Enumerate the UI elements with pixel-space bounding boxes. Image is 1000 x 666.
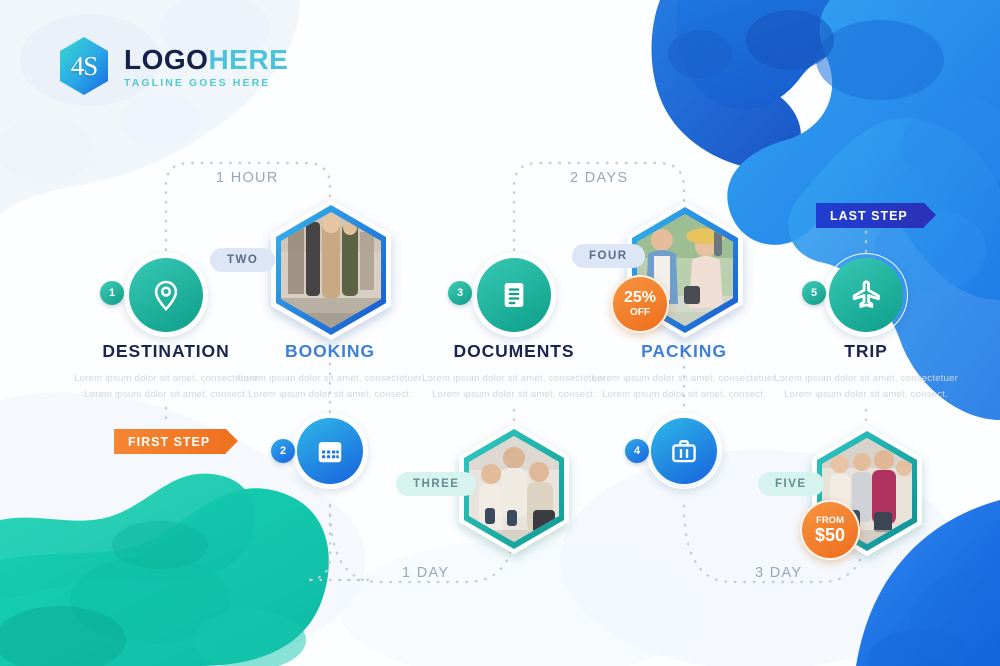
step-text-booking: BOOKING Lorem ipsum dolor sit amet, cons… — [230, 341, 430, 403]
chip-five[interactable]: FIVE — [758, 472, 824, 496]
step-number-badge-1: 1 — [100, 281, 124, 305]
banner-last-step-label: LAST STEP — [830, 209, 908, 223]
logo-hexagon-icon: 4S — [58, 36, 110, 96]
step-text-trip: TRIP Lorem ipsum dolor sit amet, consect… — [766, 341, 966, 403]
chip-four[interactable]: FOUR — [572, 244, 645, 268]
document-icon — [477, 258, 551, 332]
promo-price-value: $50 — [815, 526, 845, 544]
infographic-canvas: 4S LOGOHERE TAGLINE GOES HERE — [0, 0, 1000, 666]
step-description-packing: Lorem ipsum dolor sit amet, consectetuer… — [584, 371, 784, 403]
step-icon-packing[interactable] — [651, 418, 717, 484]
step-number-badge-4: 4 — [625, 439, 649, 463]
logo-mark-text: 4S — [58, 36, 110, 96]
calendar-icon — [297, 418, 363, 484]
banner-last-step[interactable]: LAST STEP — [816, 203, 924, 228]
step-title-trip: TRIP — [766, 341, 966, 362]
time-label-3-day: 3 DAY — [755, 565, 802, 581]
step-icon-destination[interactable] — [129, 258, 203, 332]
banner-first-step-label: FIRST STEP — [128, 435, 210, 449]
chip-three[interactable]: THREE — [396, 472, 476, 496]
promo-price-prefix: FROM — [816, 516, 844, 526]
promo-badge-price[interactable]: FROM $50 — [800, 500, 860, 560]
step-number-badge-3: 3 — [448, 281, 472, 305]
brand-logo[interactable]: 4S LOGOHERE TAGLINE GOES HERE — [58, 36, 288, 96]
logo-title: LOGOHERE — [124, 46, 288, 74]
step-number-badge-5: 5 — [802, 281, 826, 305]
step-description-trip: Lorem ipsum dolor sit amet, consectetuer… — [766, 371, 966, 403]
promo-discount-value: 25% — [624, 290, 656, 306]
suitcase-icon — [651, 418, 717, 484]
time-label-1-hour: 1 HOUR — [216, 170, 279, 186]
time-label-2-days: 2 DAYS — [570, 170, 628, 186]
promo-badge-discount[interactable]: 25% OFF — [611, 275, 669, 333]
step-title-booking: BOOKING — [230, 341, 430, 362]
step-icon-booking[interactable] — [297, 418, 363, 484]
time-label-1-day: 1 DAY — [402, 565, 449, 581]
step-description-booking: Lorem ipsum dolor sit amet, consectetuer… — [230, 371, 430, 403]
photo-hexagon-booking[interactable] — [258, 198, 404, 348]
step-icon-trip[interactable] — [829, 258, 903, 332]
logo-tagline: TAGLINE GOES HERE — [124, 78, 288, 89]
banner-arrow-tip — [924, 203, 936, 227]
logo-title-primary: LOGO — [124, 44, 208, 75]
banner-first-step[interactable]: FIRST STEP — [114, 429, 226, 454]
banner-arrow-tip — [226, 429, 238, 453]
location-pin-icon — [129, 258, 203, 332]
step-text-packing: PACKING Lorem ipsum dolor sit amet, cons… — [584, 341, 784, 403]
step-title-packing: PACKING — [584, 341, 784, 362]
promo-discount-label: OFF — [630, 308, 650, 318]
airplane-icon — [829, 258, 903, 332]
step-number-badge-2: 2 — [271, 439, 295, 463]
logo-title-secondary: HERE — [208, 44, 288, 75]
chip-two[interactable]: TWO — [210, 248, 275, 272]
step-icon-documents[interactable] — [477, 258, 551, 332]
